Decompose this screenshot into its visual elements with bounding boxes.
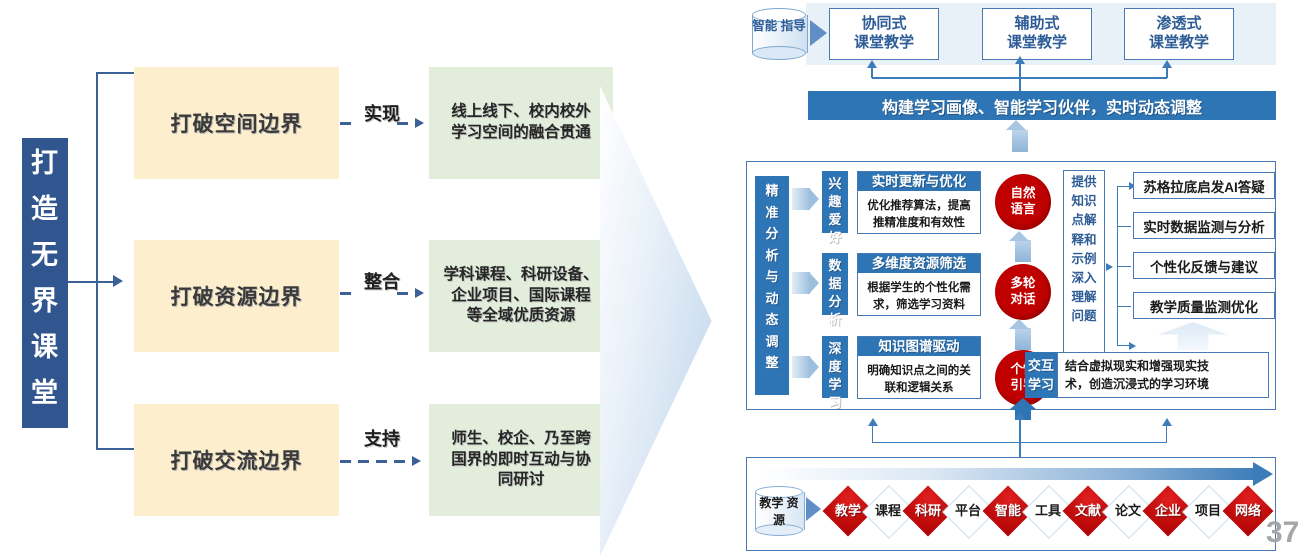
mid-text-char: 示例: [1064, 250, 1104, 269]
tag-char: 习: [822, 394, 848, 412]
mid-text-char: 释和: [1064, 231, 1104, 250]
tag-char: 据: [822, 275, 848, 293]
vbar-char: 与: [755, 266, 789, 288]
vbar-char: 析: [755, 245, 789, 267]
card-title: 实时更新与优化: [858, 172, 980, 191]
card-body: 明确知识点之间的关 联和逻辑关系: [858, 356, 980, 403]
mid-text-char: 点解: [1064, 211, 1104, 230]
connector-vertical-center: [1019, 62, 1021, 92]
card-body: 优化推荐算法，提高 推精准度和有效性: [858, 191, 980, 238]
diamond-label: 课程: [875, 503, 901, 518]
teaching-resource-db-icon: 教学 资源: [755, 486, 803, 536]
top-box-line1: 辅助式: [1014, 15, 1059, 34]
diamond-label: 教学: [835, 503, 861, 518]
diamond-label: 企业: [1155, 503, 1181, 518]
tag-char: 爱: [822, 211, 848, 229]
mid-text-char: 知识: [1064, 192, 1104, 211]
dash-seg: [358, 460, 369, 463]
top-box-1[interactable]: 协同式 课堂教学: [829, 8, 939, 60]
main-title-banner: 打 造 无 界 课 堂: [22, 138, 68, 428]
dash-seg: [340, 122, 351, 125]
tag-char: 深: [822, 340, 848, 358]
triangle-arrow-icon: [806, 497, 821, 521]
card-body: 根据学生的个性化需 求，筛选学习资料: [858, 273, 980, 320]
diamond-label: 网络: [1235, 503, 1261, 518]
tag-char: 析: [822, 311, 848, 329]
banner-char: 打: [22, 140, 68, 186]
card-knowledge-graph[interactable]: 知识图谱驱动 明确知识点之间的关 联和逻辑关系: [857, 336, 981, 399]
tree-arrow-icon: [1129, 342, 1136, 350]
dash-seg: [376, 460, 387, 463]
fat-up-arrow-icon: [1015, 328, 1031, 350]
top-box-line2: 课堂教学: [1007, 34, 1067, 53]
vr-description-box[interactable]: 结合虚拟现实和增强现实技 术，创造沉浸式的学习环境: [1057, 352, 1269, 398]
vbar-char: 分: [755, 223, 789, 245]
resource-flow-arrow-icon: [1253, 462, 1273, 486]
arrow-icon-1: [415, 118, 424, 128]
blue-summary-banner[interactable]: 构建学习画像、智能学习伙伴，实时动态调整: [808, 91, 1276, 120]
connector-vertical-center: [1019, 418, 1021, 462]
top-box-line2: 课堂教学: [1149, 34, 1209, 53]
vr-tag-line: 交互: [1025, 356, 1057, 375]
up-arrow-icon: [868, 418, 878, 426]
diamond-label: 论文: [1115, 503, 1141, 518]
triangle-arrow-icon: [810, 20, 827, 46]
topic-box-2[interactable]: 打破资源边界: [134, 240, 339, 352]
outcome-box-2[interactable]: 学科课程、科研设备、 企业项目、国际课程 等全域优质资源: [429, 240, 613, 352]
bracket-stem: [68, 281, 116, 283]
top-box-line2: 课堂教学: [854, 34, 914, 53]
diamond-label: 科研: [915, 503, 941, 518]
top-box-2[interactable]: 辅助式 课堂教学: [982, 8, 1092, 60]
output-box-1[interactable]: 苏格拉底启发AI答疑: [1133, 172, 1275, 199]
dash-seg: [397, 122, 408, 125]
circle-line2: 对话: [1010, 292, 1035, 308]
block-arrow-icon-3: [792, 356, 810, 378]
vr-tag-line: 学习: [1025, 375, 1057, 394]
circle-multiturn-dialog[interactable]: 多轮 对话: [995, 264, 1051, 320]
intelligent-guidance-db-icon: 智能 指导: [752, 8, 806, 60]
db-label-line2: 指导: [781, 19, 806, 33]
banner-char: 堂: [22, 370, 68, 416]
outcome-box-3[interactable]: 师生、校企、乃至跨 国界的即时互动与协 同研讨: [429, 404, 613, 516]
dash-seg: [340, 460, 351, 463]
vbar-char: 准: [755, 202, 789, 224]
tag-interactive-learning[interactable]: 交互 学习: [1025, 352, 1057, 398]
tag-char: 学: [822, 376, 848, 394]
tag-char: 趣: [822, 193, 848, 211]
block-arrow-icon-1: [792, 188, 810, 210]
db-label-line1: 智能: [752, 19, 777, 33]
banner-char: 界: [22, 278, 68, 324]
diamond-label: 项目: [1195, 503, 1221, 518]
connector-vertical: [1166, 424, 1167, 443]
banner-char: 课: [22, 324, 68, 370]
circle-line1: 多轮: [1010, 276, 1035, 292]
page-number: 37: [1266, 516, 1298, 550]
mid-text-char: 提供: [1064, 173, 1104, 192]
diamond-label: 文献: [1075, 503, 1101, 518]
up-arrow-icon: [1015, 56, 1025, 64]
tag-deep-learning[interactable]: 深 度 学 习: [822, 336, 848, 398]
fat-up-arrow-icon: [1015, 240, 1031, 262]
resource-flow-bar: [758, 468, 1258, 480]
topic-box-3[interactable]: 打破交流边界: [134, 404, 339, 516]
card-realtime-update[interactable]: 实时更新与优化 优化推荐算法，提高 推精准度和有效性: [857, 171, 981, 234]
top-box-line1: 渗透式: [1156, 15, 1201, 34]
card-title: 知识图谱驱动: [858, 337, 980, 356]
fat-up-arrow-icon: [1012, 130, 1028, 152]
vbar-char: 调: [755, 331, 789, 353]
arrow-icon-2: [415, 288, 424, 298]
circle-line1: 自然: [1010, 186, 1035, 202]
banner-char: 造: [22, 186, 68, 232]
output-box-2[interactable]: 实时数据监测与分析: [1133, 212, 1275, 239]
output-box-3[interactable]: 个性化反馈与建议: [1133, 252, 1275, 279]
mid-text-char: 深入: [1064, 269, 1104, 288]
dash-seg: [340, 292, 351, 295]
diamond-label: 平台: [955, 503, 981, 518]
vbar-char: 整: [755, 352, 789, 374]
top-box-line1: 协同式: [861, 15, 906, 34]
tag-char: 度: [822, 358, 848, 376]
top-box-3[interactable]: 渗透式 课堂教学: [1124, 8, 1234, 60]
mid-text-char: 理解: [1064, 288, 1104, 307]
db2-label-line1: 教学: [759, 496, 783, 510]
tag-char: 数: [822, 257, 848, 275]
tree-branch: [1117, 226, 1131, 227]
tag-char: 分: [822, 293, 848, 311]
diamond-label: 工具: [1035, 503, 1061, 518]
card-title: 多维度资源筛选: [858, 254, 980, 273]
knowledge-explanation-textbox: 提供 知识 点解 释和 示例 深入 理解 问题: [1063, 170, 1105, 364]
dash-seg: [397, 292, 408, 295]
up-arrow-icon: [1162, 418, 1172, 426]
up-arrow-icon: [867, 60, 877, 68]
circle-natural-language[interactable]: 自然 语言: [995, 174, 1051, 230]
dash-seg: [394, 460, 405, 463]
up-arrow-icon: [1162, 60, 1172, 68]
vbar-char: 态: [755, 309, 789, 331]
tag-char: 好: [822, 229, 848, 247]
up-arrow-icon: [1015, 412, 1025, 420]
bracket-connector: [96, 72, 134, 450]
diamond-label: 智能: [995, 503, 1021, 518]
topic-box-1[interactable]: 打破空间边界: [134, 67, 339, 179]
vbar-char: 动: [755, 288, 789, 310]
bracket-arrow-icon: [113, 275, 123, 287]
tag-interest[interactable]: 兴 趣 爱 好: [822, 171, 848, 233]
output-box-4[interactable]: 教学质量监测优化: [1133, 292, 1275, 319]
tree-branch: [1117, 306, 1131, 307]
vbar-char: 精: [755, 180, 789, 202]
block-arrow-icon-2: [792, 272, 810, 294]
circle-line2: 语言: [1010, 202, 1035, 218]
arrow-icon-3: [412, 456, 421, 466]
tree-inflow-arrow-icon: [1106, 263, 1113, 271]
card-multidim-filter[interactable]: 多维度资源筛选 根据学生的个性化需 求，筛选学习资料: [857, 253, 981, 316]
banner-char: 无: [22, 232, 68, 278]
tag-data-analysis[interactable]: 数 据 分 析: [822, 253, 848, 315]
precise-analysis-bar: 精 准 分 析 与 动 态 调 整: [755, 176, 789, 395]
tree-branch: [1117, 266, 1131, 267]
mid-text-char: 问题: [1064, 307, 1104, 326]
tag-char: 兴: [822, 175, 848, 193]
connector-vertical: [872, 424, 873, 443]
relation-label-3: 支持: [346, 425, 418, 451]
outcome-box-1[interactable]: 线上线下、校内校外 学习空间的融合贯通: [429, 67, 613, 179]
relation-label-2: 整合: [346, 268, 418, 294]
circle-inflow-arrow-head-icon: [1009, 398, 1037, 410]
